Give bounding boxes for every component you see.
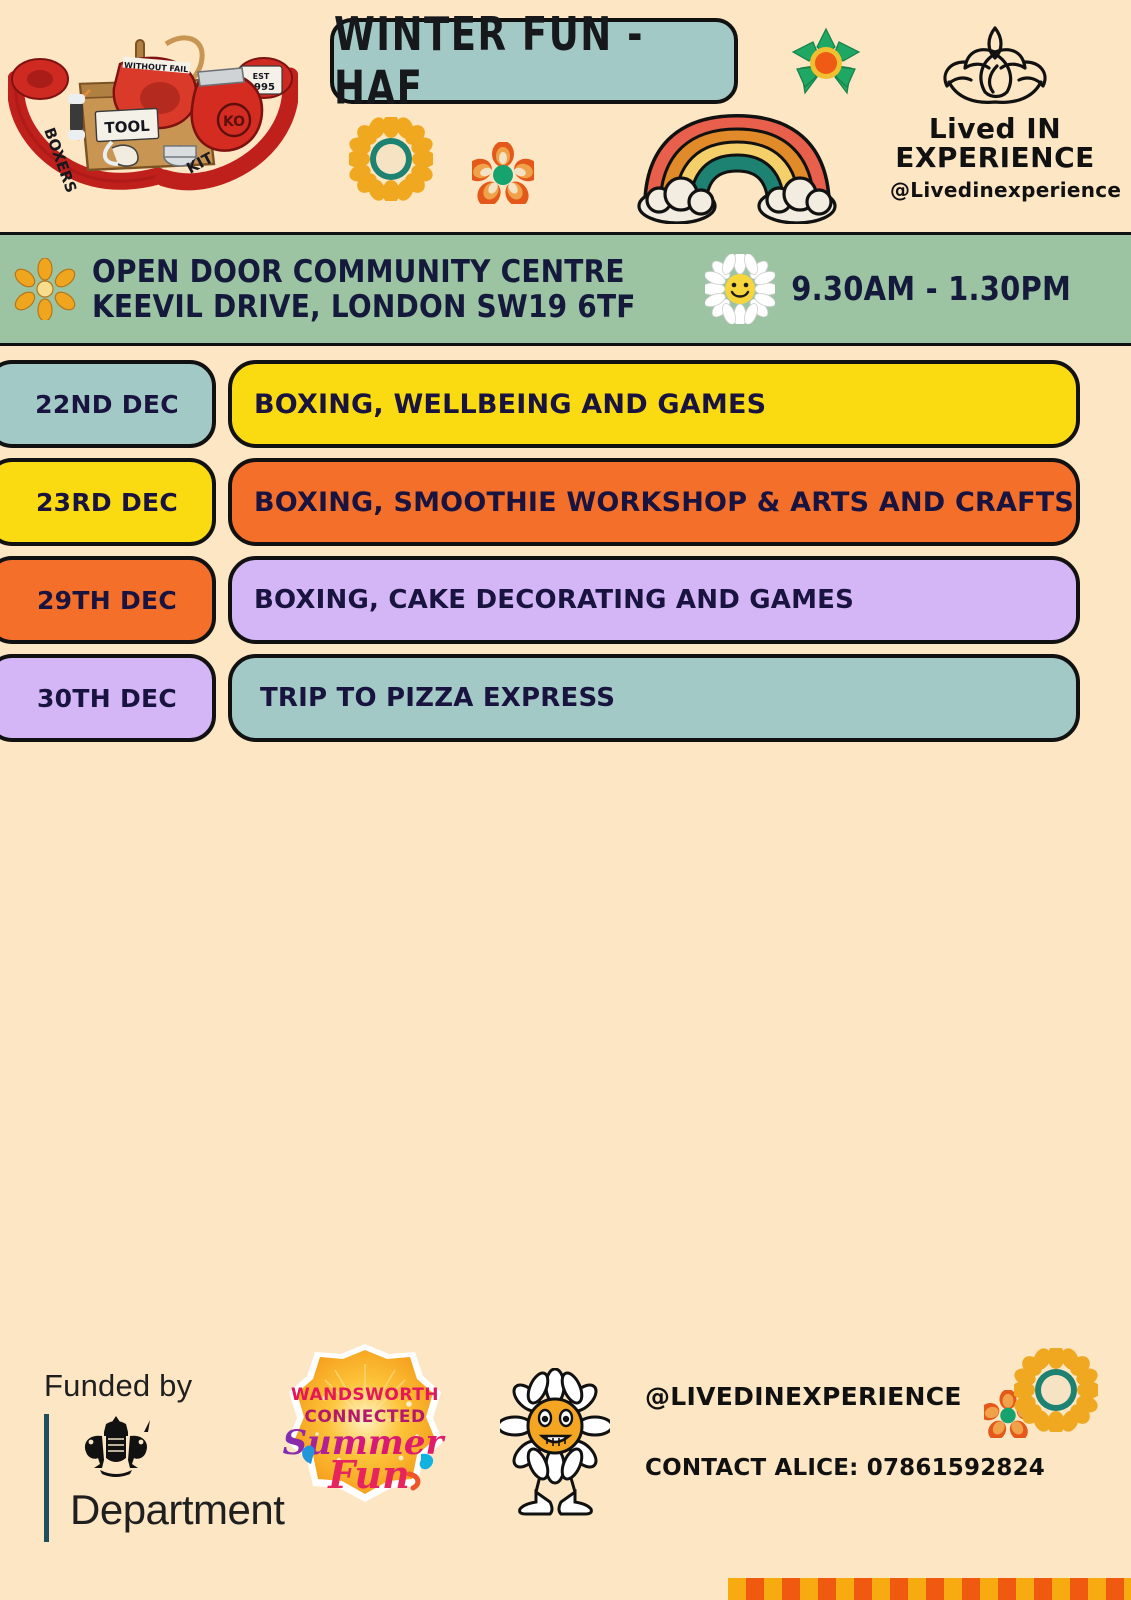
poster-canvas: EST 1995 WITHOUT FAIL KO TOOL <box>0 0 1131 1600</box>
svg-text:EST: EST <box>253 72 270 81</box>
schedule-row: 23RD DEC BOXING, SMOOTHIE WORKSHOP & ART… <box>0 458 1131 552</box>
footer: Funded by <box>0 1330 1131 1600</box>
venue-line-2: KEEVIL DRIVE, LONDON SW19 6TF <box>92 289 636 324</box>
date-pill-22nd-dec[interactable]: 22ND DEC <box>0 360 216 448</box>
activity-label: TRIP TO PIZZA EXPRESS <box>232 683 615 713</box>
daisy-mascot-icon <box>500 1368 610 1518</box>
activity-pill-30th-dec[interactable]: TRIP TO PIZZA EXPRESS <box>228 654 1080 742</box>
contact-phone: CONTACT ALICE: 07861592824 <box>645 1455 1045 1481</box>
schedule-list: 22ND DEC BOXING, WELLBEING AND GAMES 23R… <box>0 360 1131 752</box>
date-label: 29TH DEC <box>25 586 177 615</box>
date-label: 23RD DEC <box>24 488 178 517</box>
schedule-row: 22ND DEC BOXING, WELLBEING AND GAMES <box>0 360 1131 454</box>
activity-pill-22nd-dec[interactable]: BOXING, WELLBEING AND GAMES <box>228 360 1080 448</box>
flower-small-orange-icon <box>472 142 534 204</box>
date-label: 22ND DEC <box>23 390 179 419</box>
royal-crest-icon <box>78 1414 154 1480</box>
activity-label: BOXING, CAKE DECORATING AND GAMES <box>232 585 854 615</box>
funded-by-block: Funded by <box>44 1368 294 1542</box>
venue-banner: OPEN DOOR COMMUNITY CENTRE KEEVIL DRIVE,… <box>0 232 1131 346</box>
flower-orange-icon <box>14 258 76 320</box>
svg-text:WANDSWORTH: WANDSWORTH <box>291 1385 439 1405</box>
checker-stripe <box>728 1578 1131 1600</box>
department-word: Department <box>70 1486 294 1534</box>
date-pill-23rd-dec[interactable]: 23RD DEC <box>0 458 216 546</box>
activity-pill-23rd-dec[interactable]: BOXING, SMOOTHIE WORKSHOP & ARTS AND CRA… <box>228 458 1080 546</box>
lived-in-experience-logo: Lived IN EXPERIENCE @Livedinexperience <box>890 22 1100 222</box>
rainbow-icon <box>637 112 837 224</box>
date-label: 30TH DEC <box>25 684 177 713</box>
schedule-row: 30TH DEC TRIP TO PIZZA EXPRESS <box>0 654 1131 748</box>
smiley-daisy-icon <box>705 254 775 324</box>
logo-handle: @Livedinexperience <box>890 178 1100 202</box>
page-title: WINTER FUN - HAF <box>334 7 734 115</box>
svg-text:TOOL: TOOL <box>104 117 151 137</box>
flower-green-icon <box>789 27 863 101</box>
department-rule <box>44 1414 49 1542</box>
flower-gold-daisy-icon <box>349 117 433 201</box>
funded-by-label: Funded by <box>44 1368 294 1404</box>
header: EST 1995 WITHOUT FAIL KO TOOL <box>0 0 1131 232</box>
date-pill-29th-dec[interactable]: 29TH DEC <box>0 556 216 644</box>
boxing-kit-illustration: EST 1995 WITHOUT FAIL KO TOOL <box>8 24 298 214</box>
activity-label: BOXING, WELLBEING AND GAMES <box>232 389 766 420</box>
venue-line-1: OPEN DOOR COMMUNITY CENTRE <box>92 254 636 289</box>
date-pill-30th-dec[interactable]: 30TH DEC <box>0 654 216 742</box>
schedule-row: 29TH DEC BOXING, CAKE DECORATING AND GAM… <box>0 556 1131 650</box>
logo-name-line2: EXPERIENCE <box>890 143 1100 172</box>
time-group: 9.30AM - 1.30PM <box>705 254 1071 324</box>
session-time: 9.30AM - 1.30PM <box>791 270 1071 308</box>
activity-pill-29th-dec[interactable]: BOXING, CAKE DECORATING AND GAMES <box>228 556 1080 644</box>
logo-name-line1: Lived IN <box>890 114 1100 143</box>
poster-title-badge: WINTER FUN - HAF <box>330 18 738 104</box>
lotus-icon <box>935 22 1055 108</box>
activity-label: BOXING, SMOOTHIE WORKSHOP & ARTS AND CRA… <box>232 487 1074 518</box>
flower-gold-daisy-icon <box>1014 1348 1098 1432</box>
department-logo: Department <box>44 1414 294 1542</box>
svg-text:KO: KO <box>223 114 245 130</box>
svg-text:Fun: Fun <box>327 1452 410 1497</box>
summer-fun-logo: WANDSWORTH CONNECTED Summer Fun <box>283 1342 447 1506</box>
venue-address: OPEN DOOR COMMUNITY CENTRE KEEVIL DRIVE,… <box>92 254 636 324</box>
